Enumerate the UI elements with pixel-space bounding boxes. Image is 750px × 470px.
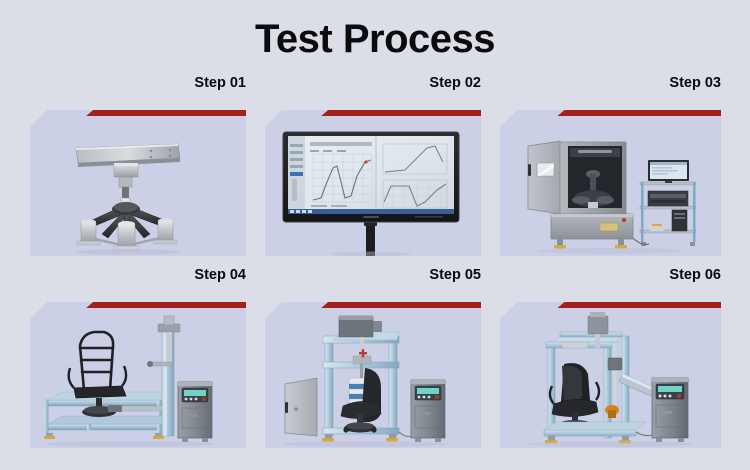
step-image-card-2 — [265, 110, 481, 256]
step-image-card-4 — [30, 302, 246, 448]
step-label-4: Step 04 — [194, 268, 246, 283]
steps-grid: Step 01 — [30, 96, 721, 448]
step-label-3: Step 03 — [669, 76, 721, 91]
test-data-monitor-photo — [265, 110, 481, 256]
step-card-4[interactable]: Step 04 — [30, 288, 246, 448]
step-image-card-3 — [500, 110, 721, 256]
step-card-3[interactable]: Step 03 — [500, 96, 721, 256]
step-label-2: Step 02 — [429, 76, 481, 91]
horizontal-chair-back-tester-photo — [30, 302, 246, 448]
page-title: Test Process — [0, 16, 750, 62]
step-card-6[interactable]: Step 06 — [500, 288, 721, 448]
step-image-card-6 — [500, 302, 721, 448]
step-label-1: Step 01 — [194, 76, 246, 91]
step-card-1[interactable]: Step 01 — [30, 96, 246, 256]
step-card-5[interactable]: Step 05 — [265, 288, 481, 448]
combined-chair-durability-tester-photo — [500, 302, 721, 448]
seat-drop-impact-tester-photo — [265, 302, 481, 448]
enclosed-test-cabinet-photo — [500, 110, 721, 256]
step-label-6: Step 06 — [669, 268, 721, 283]
step-image-card-5 — [265, 302, 481, 448]
step-label-5: Step 05 — [429, 268, 481, 283]
test-process-page: Test Process Step 01 — [0, 0, 750, 470]
step-card-2[interactable]: Step 02 — [265, 96, 481, 256]
step-image-card-1 — [30, 110, 246, 256]
chair-base-static-load-tester-photo — [30, 110, 246, 256]
